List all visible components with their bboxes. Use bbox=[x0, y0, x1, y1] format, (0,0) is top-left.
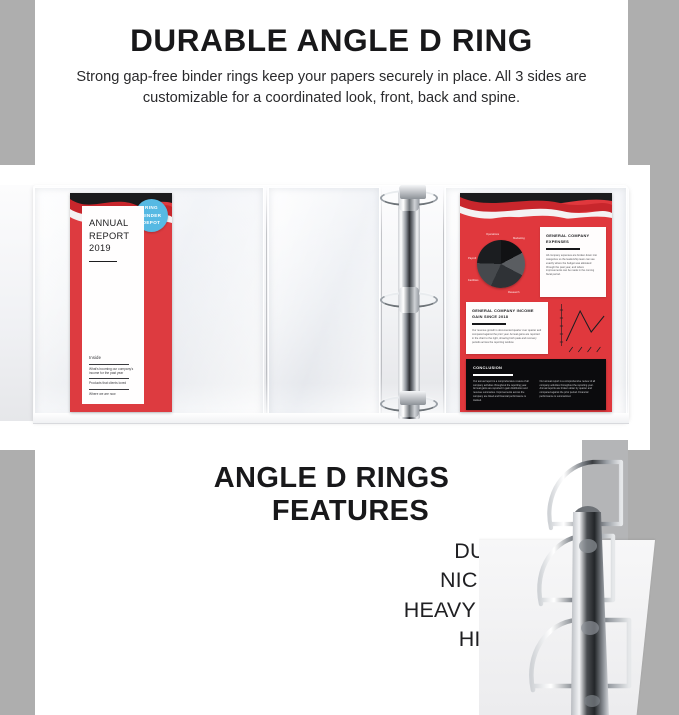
income-card-title: GENERAL COMPANY INCOME GAIN SINCE 2018 bbox=[472, 308, 542, 319]
d-ring-1 bbox=[380, 185, 438, 211]
income-card-body: Our revenue growth is documented quarter… bbox=[472, 329, 542, 345]
pie-label-5: Research bbox=[508, 291, 520, 295]
pie-label-2: Marketing bbox=[513, 237, 525, 241]
inside-item-2: Products that clients loved bbox=[89, 381, 138, 385]
open-binder-photo: RING BINDER DEPOT ANNUAL REPORT 2019 Ins… bbox=[0, 165, 650, 450]
conclusion-column-2: Our annual report is a comprehensive rev… bbox=[540, 380, 600, 403]
annual-report-title-line-3: 2019 bbox=[89, 242, 138, 255]
annual-report-white-panel: ANNUAL REPORT 2019 Inside What's booming… bbox=[82, 206, 144, 404]
conclusion-title: CONCLUSION bbox=[473, 365, 599, 370]
expenses-card-rule bbox=[546, 248, 580, 250]
d-ring-knob bbox=[399, 287, 419, 313]
header-block: DURABLE ANGLE D RING Strong gap-free bin… bbox=[35, 24, 628, 109]
page-subtitle: Strong gap-free binder rings keep your p… bbox=[35, 67, 628, 108]
income-card-rule bbox=[472, 323, 506, 325]
logo-line-1: RING bbox=[145, 204, 158, 211]
d-ring-2 bbox=[380, 287, 438, 313]
conclusion-column-1: Our annual report is a comprehensive rev… bbox=[473, 380, 533, 403]
conclusion-rule bbox=[473, 374, 513, 376]
expenses-card-title: GENERAL COMPANY EXPENSES bbox=[546, 233, 600, 244]
binder-crease-3 bbox=[443, 187, 444, 419]
inside-item-1: What's booming our company's income for … bbox=[89, 367, 138, 375]
logo-line-2: BINDER bbox=[142, 212, 162, 219]
inside-divider-1 bbox=[89, 364, 129, 365]
annual-report-title-line-1: ANNUAL bbox=[89, 217, 138, 230]
annual-report-cover-insert: RING BINDER DEPOT ANNUAL REPORT 2019 Ins… bbox=[70, 193, 172, 412]
expenses-text-card: GENERAL COMPANY EXPENSES All company exp… bbox=[540, 227, 606, 297]
report-spread-insert: Operations Marketing Payroll Facilities … bbox=[460, 193, 612, 412]
inside-label: Inside bbox=[89, 355, 138, 360]
annual-report-title-line-2: REPORT bbox=[89, 230, 138, 243]
pie-label-3: Payroll bbox=[468, 257, 476, 261]
binder-crease-1 bbox=[266, 187, 267, 419]
inside-divider-2 bbox=[89, 378, 129, 379]
locking-lever-icon bbox=[400, 185, 426, 199]
income-section: GENERAL COMPANY INCOME GAIN SINCE 2018 O… bbox=[466, 302, 606, 354]
inside-divider-3 bbox=[89, 389, 129, 390]
expenses-pie-chart: Operations Marketing Payroll Facilities … bbox=[468, 231, 534, 297]
d-ring-mechanism bbox=[376, 183, 442, 425]
pie-slices bbox=[477, 240, 525, 288]
expenses-card-body: All company expenses are broken down int… bbox=[546, 254, 600, 277]
closeup-ring-assembly bbox=[489, 446, 669, 715]
product-marketing-image: DURABLE ANGLE D RING Strong gap-free bin… bbox=[0, 0, 679, 715]
clear-pocket-spine bbox=[268, 187, 380, 419]
pie-label-4: Facilities bbox=[468, 279, 478, 283]
annual-report-title-rule bbox=[89, 261, 117, 262]
ring-closeup-photo bbox=[479, 440, 679, 715]
annual-report-inside-list: Inside What's booming our company's inco… bbox=[89, 355, 138, 396]
locking-lever-icon bbox=[400, 391, 426, 405]
binder-bottom-lip bbox=[33, 413, 629, 424]
logo-line-3: DEPOT bbox=[143, 219, 161, 226]
inside-item-3: Where we are now bbox=[89, 392, 138, 396]
conclusion-columns: Our annual report is a comprehensive rev… bbox=[473, 380, 599, 403]
expenses-section: Operations Marketing Payroll Facilities … bbox=[466, 227, 606, 297]
page-title: DURABLE ANGLE D RING bbox=[35, 24, 628, 57]
report-spread-body: Operations Marketing Payroll Facilities … bbox=[460, 223, 612, 412]
d-ring-3 bbox=[380, 391, 438, 417]
income-line-chart bbox=[553, 302, 606, 354]
income-text-card: GENERAL COMPANY INCOME GAIN SINCE 2018 O… bbox=[466, 302, 548, 354]
pie-label-1: Operations bbox=[486, 233, 499, 237]
conclusion-panel: CONCLUSION Our annual report is a compre… bbox=[466, 359, 606, 410]
red-wave-graphic bbox=[460, 193, 612, 227]
